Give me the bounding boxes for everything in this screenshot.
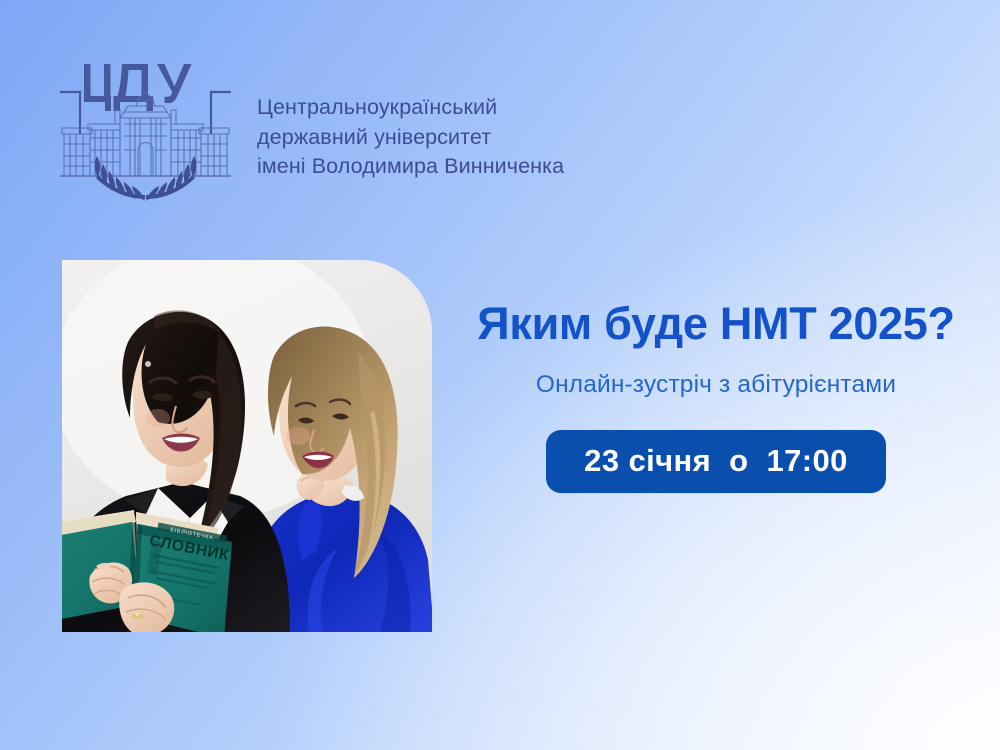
event-datetime-badge[interactable]: 23 січня о 17:00 — [546, 430, 886, 493]
brand-lockup: Центральноукраїнський державний універси… — [58, 58, 564, 206]
page-title: Яким буде НМТ 2025? — [477, 300, 954, 349]
page-subtitle: Онлайн-зустріч з абітурієнтами — [536, 370, 896, 399]
students-photo: БІБЛІОТЕЧКА СЛОВНИК — [62, 260, 432, 632]
university-building-emblem-icon — [58, 58, 233, 206]
poster-canvas: Центральноукраїнський державний універси… — [0, 0, 1000, 750]
students-photo-artwork: БІБЛІОТЕЧКА СЛОВНИК — [62, 260, 432, 632]
event-content: Яким буде НМТ 2025? Онлайн-зустріч з абі… — [432, 300, 1000, 493]
university-name: Центральноукраїнський державний універси… — [257, 93, 564, 182]
